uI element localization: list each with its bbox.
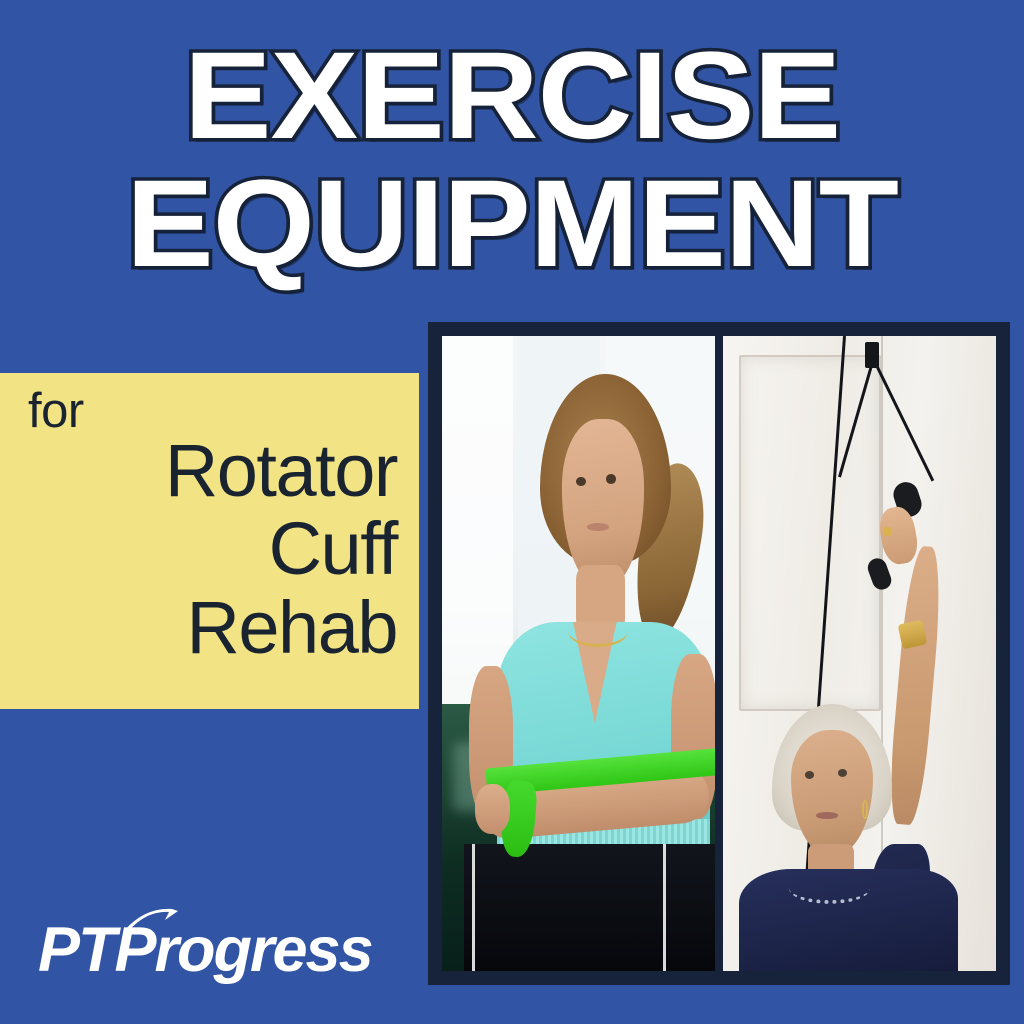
gold-necklace — [568, 615, 628, 647]
eye-right — [838, 769, 847, 777]
mouth — [816, 812, 838, 818]
callout-line-rotator: Rotator — [28, 432, 397, 510]
photo-collage-frame — [428, 322, 1010, 985]
eye-right — [606, 474, 616, 484]
earring — [862, 800, 867, 819]
pants-stripe-right — [663, 844, 666, 971]
mouth — [587, 523, 609, 531]
photo-divider — [715, 336, 723, 971]
window-pane-left — [442, 336, 513, 704]
title-line-equipment: EQUIPMENT — [0, 164, 1024, 286]
photo-shoulder-pulley — [723, 336, 996, 971]
callout-headline: Rotator Cuff Rehab — [28, 432, 397, 667]
photo-resistance-band — [442, 336, 715, 971]
title-line-exercise: EXERCISE — [0, 36, 1024, 158]
eye-left — [805, 771, 814, 779]
brand-logo[interactable]: PTProgress — [38, 919, 372, 982]
subtitle-callout: for Rotator Cuff Rehab — [0, 373, 419, 709]
gold-ring — [884, 527, 891, 537]
callout-line-cuff: Cuff — [28, 510, 397, 588]
callout-line-rehab: Rehab — [28, 589, 397, 667]
logo-text: PTProgress — [38, 919, 372, 982]
page-title: EXERCISE EQUIPMENT — [0, 36, 1024, 285]
hand-gripping-band — [475, 784, 510, 835]
eye-left — [576, 477, 586, 487]
pants-stripe-left — [472, 844, 475, 971]
door-anchor-bracket — [865, 342, 879, 367]
black-pants — [464, 844, 715, 971]
